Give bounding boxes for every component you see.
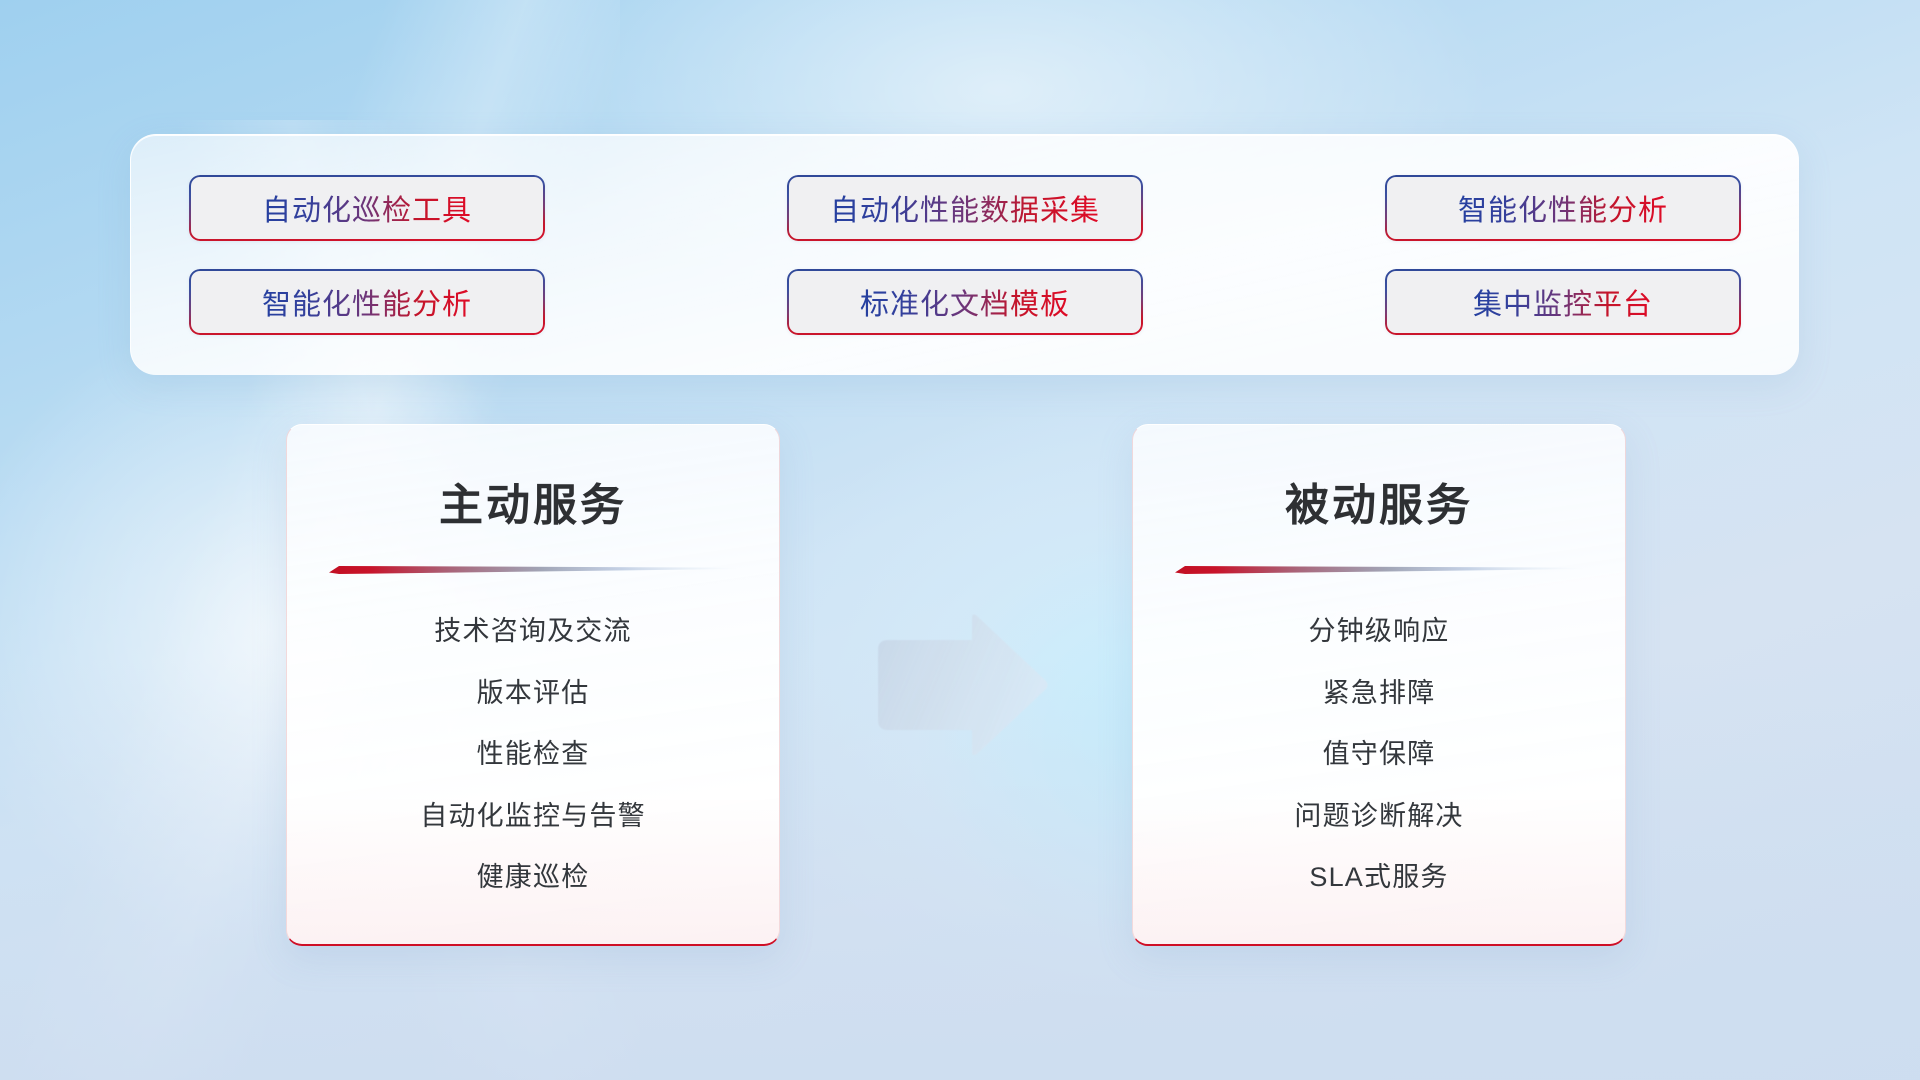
list-item: 值守保障 — [1323, 734, 1436, 775]
tag-pill-label: 自动化巡检工具 — [262, 187, 472, 229]
tag-row-2: 智能化性能分析 标准化文档模板 集中监控平台 — [189, 269, 1741, 335]
list-item: 性能检查 — [477, 734, 590, 775]
tag-pill-centralized-monitoring-platform[interactable]: 集中监控平台 — [1385, 269, 1741, 335]
tag-pill-intelligent-performance-analysis-bottom[interactable]: 智能化性能分析 — [189, 269, 545, 335]
tag-row-1: 自动化巡检工具 自动化性能数据采集 智能化性能分析 — [189, 175, 1741, 241]
list-item: 技术咨询及交流 — [434, 611, 631, 652]
service-card-title: 主动服务 — [287, 469, 779, 533]
list-item: SLA式服务 — [1309, 857, 1448, 898]
tag-pill-label: 智能化性能分析 — [1458, 187, 1668, 229]
service-item-list: 分钟级响应 紧急排障 值守保障 问题诊断解决 SLA式服务 — [1133, 611, 1625, 898]
tag-pill-label: 自动化性能数据采集 — [830, 187, 1100, 229]
list-item: 自动化监控与告警 — [420, 796, 646, 837]
list-item: 分钟级响应 — [1309, 611, 1450, 652]
capability-tag-panel: 自动化巡检工具 自动化性能数据采集 智能化性能分析 智能化性能分析 标准化文档模… — [130, 134, 1799, 375]
service-item-list: 技术咨询及交流 版本评估 性能检查 自动化监控与告警 健康巡检 — [287, 611, 779, 898]
tag-pill-automated-performance-data-collection[interactable]: 自动化性能数据采集 — [787, 175, 1143, 241]
list-item: 版本评估 — [477, 673, 590, 714]
list-item: 紧急排障 — [1323, 673, 1436, 714]
title-gradient-divider — [329, 563, 737, 575]
tag-pill-label: 标准化文档模板 — [860, 281, 1070, 323]
tag-pill-automated-inspection-tool[interactable]: 自动化巡检工具 — [189, 175, 545, 241]
tag-pill-intelligent-performance-analysis-top[interactable]: 智能化性能分析 — [1385, 175, 1741, 241]
title-gradient-divider — [1175, 563, 1583, 575]
tag-pill-label: 集中监控平台 — [1473, 281, 1653, 323]
arrow-right-icon — [872, 612, 1050, 755]
list-item: 健康巡检 — [477, 857, 590, 898]
tag-pill-label: 智能化性能分析 — [262, 281, 472, 323]
tag-pill-standardized-document-template[interactable]: 标准化文档模板 — [787, 269, 1143, 335]
service-card-passive: 被动服务 分钟级响应 紧急排障 值守保障 问题诊断解决 SLA式服务 — [1132, 424, 1626, 946]
service-card-active: 主动服务 技术咨询及交流 版本评估 性能检查 自动化监控与告警 健康巡检 — [286, 424, 780, 946]
service-card-title: 被动服务 — [1133, 469, 1625, 533]
list-item: 问题诊断解决 — [1294, 796, 1463, 837]
